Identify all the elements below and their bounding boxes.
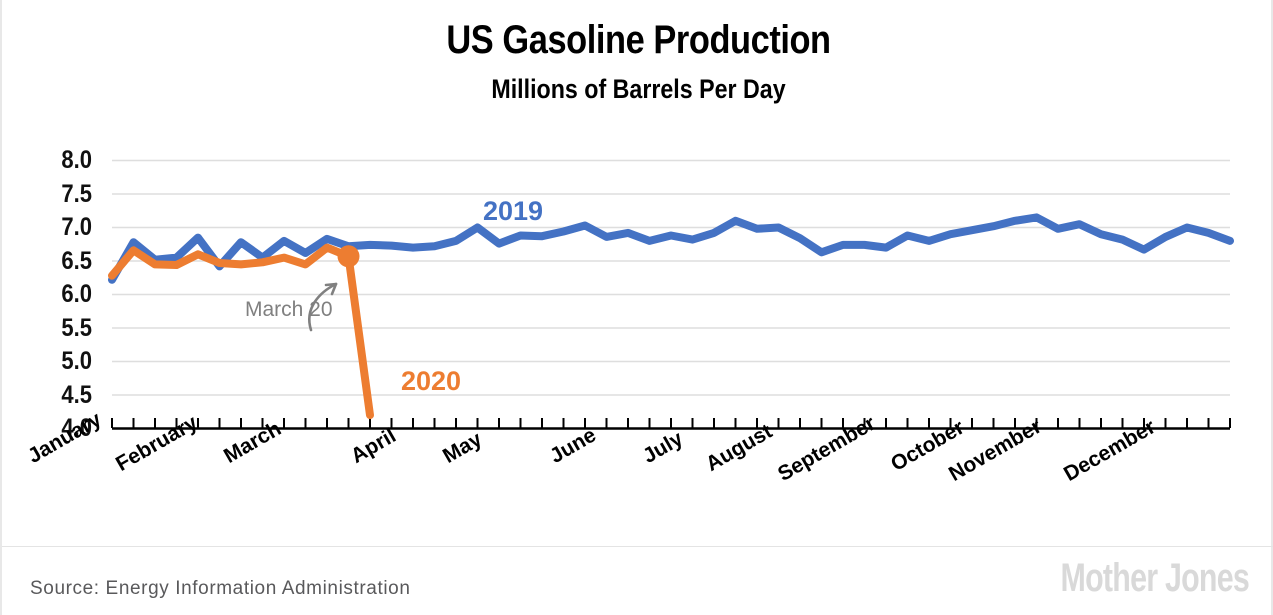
footer-divider xyxy=(2,546,1273,547)
gridlines xyxy=(112,161,1230,396)
march20-annotation-label: March 20 xyxy=(245,298,333,322)
chart-plot-area xyxy=(2,0,1273,615)
mother-jones-logo: Mother Jones xyxy=(1060,556,1249,601)
x-axis-ticks xyxy=(112,418,1230,428)
series-line-2019 xyxy=(112,217,1230,279)
source-note: Source: Energy Information Administratio… xyxy=(30,578,411,600)
chart-frame: US Gasoline Production Millions of Barre… xyxy=(0,0,1273,615)
series-label-2020: 2020 xyxy=(401,366,461,397)
series-line-2020 xyxy=(112,248,370,416)
march20-marker-dot xyxy=(338,245,360,267)
series-label-2019: 2019 xyxy=(483,196,543,227)
